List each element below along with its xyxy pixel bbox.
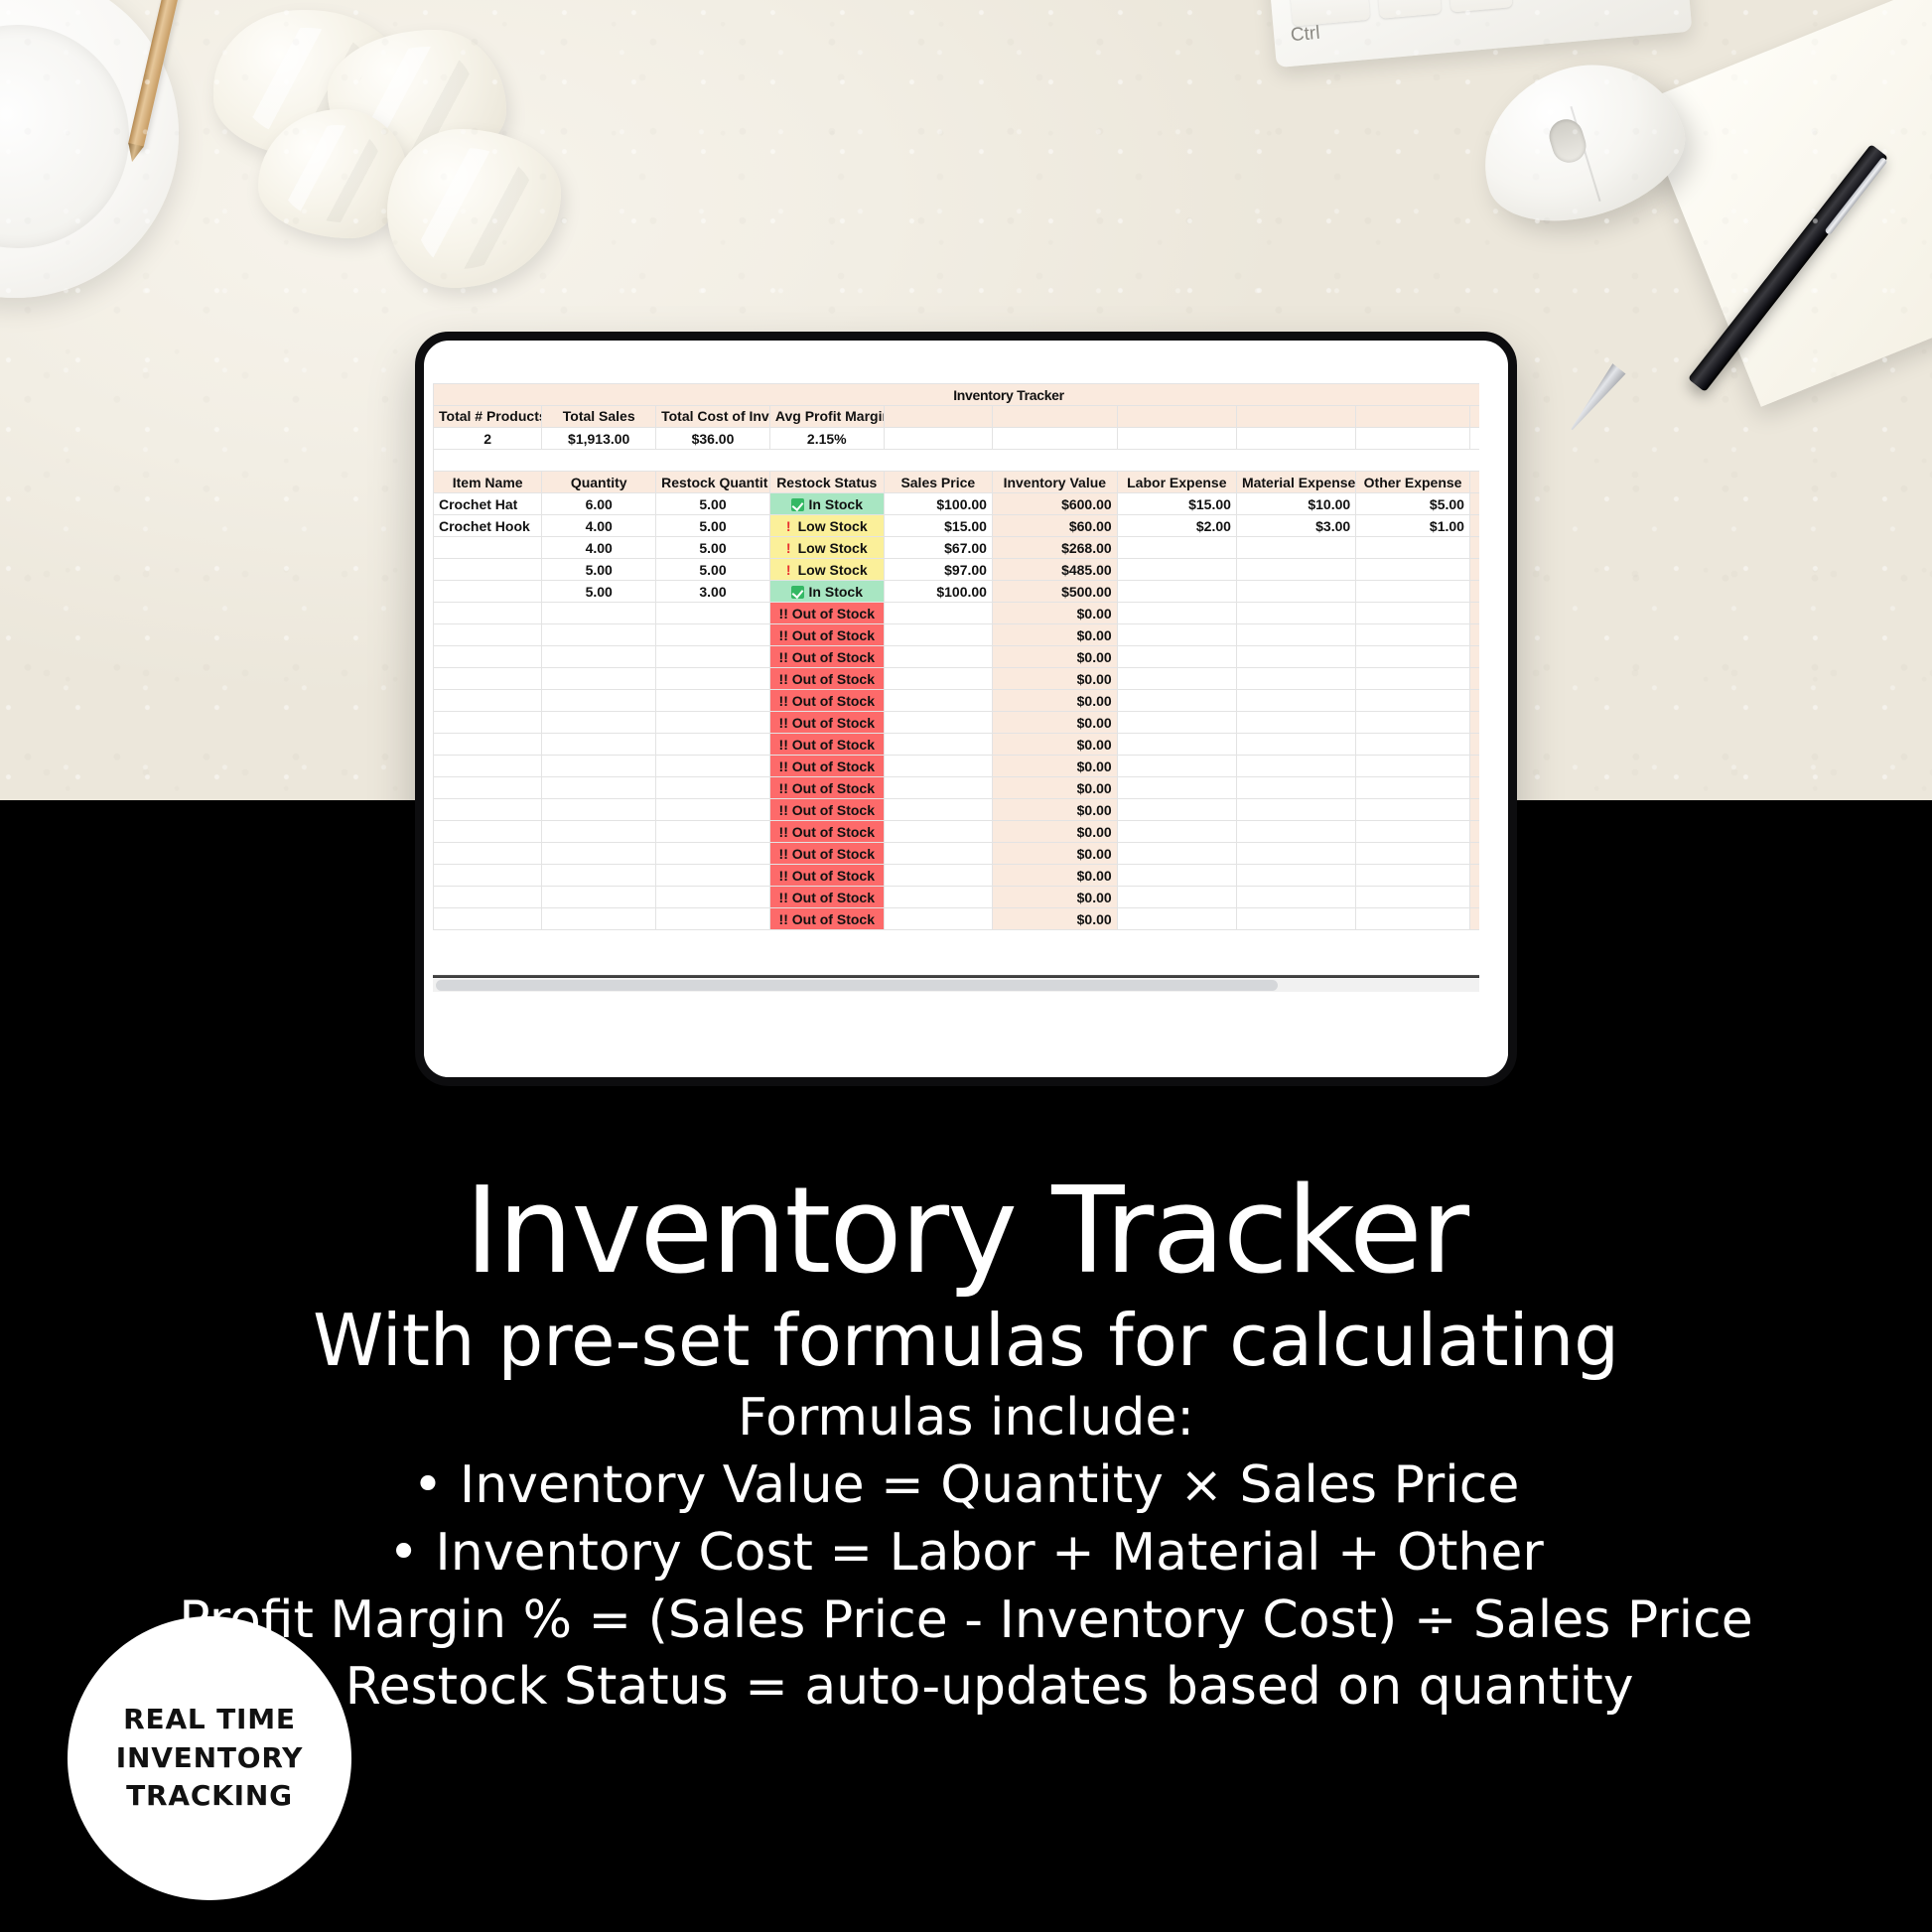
cell-other-expense[interactable]: [1356, 865, 1470, 887]
table-row[interactable]: Crochet Hook4.005.00!Low Stock$15.00$60.…: [434, 515, 1480, 537]
cell-restock-quantity[interactable]: [656, 756, 770, 777]
cell-restock-status[interactable]: !Low Stock: [769, 537, 884, 559]
subheadline: With pre-set formulas for calculating: [0, 1301, 1932, 1381]
cell-restock-status[interactable]: !! Out of Stock: [769, 603, 884, 624]
cell-restock-quantity[interactable]: [656, 690, 770, 712]
kpi-header-1: Total Sales: [542, 406, 656, 428]
kpi-value-row: 2$1,913.00$36.002.15%: [434, 428, 1480, 450]
kpi-value-1[interactable]: $1,913.00: [542, 428, 656, 450]
table-row[interactable]: 5.003.00In Stock$100.00$500.00$0.0: [434, 581, 1480, 603]
cell-restock-quantity[interactable]: [656, 646, 770, 668]
kpi-header-row: Total # ProductsTotal SalesTotal Cost of…: [434, 406, 1480, 428]
cell-restock-status[interactable]: !! Out of Stock: [769, 690, 884, 712]
formula-item-0: • Inventory Value = Quantity × Sales Pri…: [0, 1452, 1932, 1520]
cell-quantity[interactable]: [542, 668, 656, 690]
cell-quantity[interactable]: [542, 712, 656, 734]
cell-restock-status[interactable]: In Stock: [769, 581, 884, 603]
crumpled-paper: [387, 129, 561, 288]
cell-labor-expense[interactable]: [1117, 690, 1236, 712]
cell-sales-price[interactable]: $15.00: [884, 515, 992, 537]
cell-item-name[interactable]: [434, 734, 542, 756]
cell-inventory-value[interactable]: $0.00: [992, 756, 1117, 777]
kpi-value-5[interactable]: [992, 428, 1117, 450]
cell-other-expense[interactable]: [1356, 581, 1470, 603]
cell-item-name[interactable]: [434, 821, 542, 843]
cell-other-expense[interactable]: [1356, 799, 1470, 821]
kpi-header-3: Avg Profit Margin: [769, 406, 884, 428]
cell-item-name[interactable]: [434, 603, 542, 624]
cell-restock-quantity[interactable]: [656, 603, 770, 624]
cell-other-expense[interactable]: [1356, 690, 1470, 712]
kpi-header-pad: [1469, 406, 1479, 428]
cell-restock-quantity[interactable]: 3.00: [656, 581, 770, 603]
table-row[interactable]: 4.005.00!Low Stock$67.00$268.00$0.0: [434, 537, 1480, 559]
cell-inventory-value[interactable]: $0.00: [992, 712, 1117, 734]
column-header-5[interactable]: Inventory Value: [992, 472, 1117, 493]
laptop-mockup: Inventory TrackerTotal # ProductsTotal S…: [415, 332, 1517, 1086]
badge-line-3: TRACKING: [116, 1777, 304, 1816]
cell-quantity[interactable]: 4.00: [542, 537, 656, 559]
column-header-4[interactable]: Sales Price: [884, 472, 992, 493]
cell-inventory-cost[interactable]: $6.0: [1469, 515, 1479, 537]
cell-labor-expense[interactable]: [1117, 646, 1236, 668]
inventory-table[interactable]: Inventory TrackerTotal # ProductsTotal S…: [433, 383, 1479, 930]
cell-quantity[interactable]: [542, 603, 656, 624]
cell-labor-expense[interactable]: [1117, 712, 1236, 734]
column-header-row: Item NameQuantityRestock QuantitRestock …: [434, 472, 1480, 493]
kpi-header-0: Total # Products: [434, 406, 542, 428]
cell-restock-quantity[interactable]: [656, 908, 770, 930]
cell-other-expense[interactable]: [1356, 537, 1470, 559]
column-header-8[interactable]: Other Expense: [1356, 472, 1470, 493]
cell-inventory-cost[interactable]: $0.0: [1469, 690, 1479, 712]
cell-labor-expense[interactable]: [1117, 865, 1236, 887]
cell-material-expense[interactable]: [1236, 865, 1355, 887]
cell-other-expense[interactable]: [1356, 668, 1470, 690]
mouse: [1462, 41, 1701, 242]
cell-other-expense[interactable]: [1356, 777, 1470, 799]
cell-sales-price[interactable]: [884, 690, 992, 712]
sheet-title-row: Inventory Tracker: [434, 384, 1480, 406]
cell-restock-quantity[interactable]: [656, 734, 770, 756]
cell-inventory-value[interactable]: $0.00: [992, 603, 1117, 624]
cell-item-name[interactable]: [434, 887, 542, 908]
cell-item-name[interactable]: [434, 690, 542, 712]
cell-inventory-value[interactable]: $500.00: [992, 581, 1117, 603]
cell-labor-expense[interactable]: [1117, 887, 1236, 908]
table-row[interactable]: !! Out of Stock$0.00$0.0: [434, 865, 1480, 887]
table-row[interactable]: !! Out of Stock$0.00$0.0: [434, 624, 1480, 646]
cell-inventory-value[interactable]: $0.00: [992, 690, 1117, 712]
cell-sales-price[interactable]: [884, 865, 992, 887]
table-row[interactable]: !! Out of Stock$0.00$0.0: [434, 668, 1480, 690]
cell-restock-status[interactable]: !! Out of Stock: [769, 843, 884, 865]
scrollbar-thumb[interactable]: [436, 980, 1278, 991]
column-header-0[interactable]: Item Name: [434, 472, 542, 493]
cell-sales-price[interactable]: $97.00: [884, 559, 992, 581]
check-icon: [791, 498, 804, 511]
cell-inventory-value[interactable]: $268.00: [992, 537, 1117, 559]
cell-inventory-value[interactable]: $0.00: [992, 668, 1117, 690]
cell-other-expense[interactable]: [1356, 756, 1470, 777]
cell-labor-expense[interactable]: [1117, 624, 1236, 646]
cell-item-name[interactable]: [434, 777, 542, 799]
sheet-title: Inventory Tracker: [434, 384, 1480, 406]
cell-other-expense[interactable]: [1356, 559, 1470, 581]
kpi-header-4: [884, 406, 992, 428]
cell-material-expense[interactable]: [1236, 690, 1355, 712]
cell-item-name[interactable]: [434, 646, 542, 668]
cell-quantity[interactable]: [542, 646, 656, 668]
cell-restock-status[interactable]: !! Out of Stock: [769, 756, 884, 777]
cell-inventory-cost[interactable]: $0.0: [1469, 887, 1479, 908]
cell-sales-price[interactable]: [884, 603, 992, 624]
cell-item-name[interactable]: [434, 908, 542, 930]
keyboard-key: [1288, 0, 1370, 26]
cell-item-name[interactable]: [434, 712, 542, 734]
column-header-1[interactable]: Quantity: [542, 472, 656, 493]
cell-quantity[interactable]: [542, 821, 656, 843]
cell-restock-quantity[interactable]: [656, 777, 770, 799]
cell-quantity[interactable]: 6.00: [542, 493, 656, 515]
cell-item-name[interactable]: [434, 537, 542, 559]
cell-inventory-value[interactable]: $485.00: [992, 559, 1117, 581]
cell-other-expense[interactable]: $1.00: [1356, 515, 1470, 537]
cell-inventory-cost[interactable]: $0.0: [1469, 581, 1479, 603]
check-icon: [791, 586, 804, 599]
cell-material-expense[interactable]: [1236, 646, 1355, 668]
cell-inventory-cost[interactable]: $0.0: [1469, 734, 1479, 756]
cell-item-name[interactable]: [434, 799, 542, 821]
cell-item-name[interactable]: [434, 668, 542, 690]
crumpled-paper: [213, 10, 402, 159]
cell-other-expense[interactable]: [1356, 624, 1470, 646]
column-header-3[interactable]: Restock Status: [769, 472, 884, 493]
spreadsheet-viewport[interactable]: Inventory TrackerTotal # ProductsTotal S…: [433, 383, 1479, 1058]
cell-restock-status[interactable]: !! Out of Stock: [769, 712, 884, 734]
cell-restock-status[interactable]: !! Out of Stock: [769, 777, 884, 799]
cell-labor-expense[interactable]: [1117, 908, 1236, 930]
cell-restock-quantity[interactable]: [656, 668, 770, 690]
cell-inventory-value[interactable]: $0.00: [992, 624, 1117, 646]
real-time-tracking-badge: REAL TIME INVENTORY TRACKING: [68, 1616, 351, 1900]
cell-other-expense[interactable]: [1356, 908, 1470, 930]
table-row[interactable]: !! Out of Stock$0.00$0.0: [434, 821, 1480, 843]
cell-quantity[interactable]: [542, 887, 656, 908]
pen-clip: [1824, 157, 1887, 235]
cell-sales-price[interactable]: [884, 712, 992, 734]
table-row[interactable]: !! Out of Stock$0.00$0.0: [434, 646, 1480, 668]
table-row[interactable]: !! Out of Stock$0.00$0.0: [434, 712, 1480, 734]
keyboard-key: [1446, 0, 1512, 13]
cell-labor-expense[interactable]: [1117, 537, 1236, 559]
cell-item-name[interactable]: [434, 756, 542, 777]
pen-tip: [1563, 361, 1627, 436]
cell-material-expense[interactable]: [1236, 559, 1355, 581]
column-header-2[interactable]: Restock Quantit: [656, 472, 770, 493]
cell-sales-price[interactable]: [884, 756, 992, 777]
horizontal-scrollbar[interactable]: [433, 977, 1479, 992]
cell-quantity[interactable]: [542, 756, 656, 777]
cell-restock-quantity[interactable]: 5.00: [656, 515, 770, 537]
cell-restock-status[interactable]: !! Out of Stock: [769, 624, 884, 646]
cell-restock-quantity[interactable]: [656, 887, 770, 908]
cell-labor-expense[interactable]: [1117, 734, 1236, 756]
crumpled-paper: [328, 30, 506, 169]
cell-material-expense[interactable]: [1236, 777, 1355, 799]
cell-sales-price[interactable]: [884, 777, 992, 799]
cell-labor-expense[interactable]: [1117, 668, 1236, 690]
cell-quantity[interactable]: [542, 777, 656, 799]
cell-item-name[interactable]: [434, 624, 542, 646]
spacer-row: [434, 450, 1480, 472]
cell-restock-quantity[interactable]: [656, 712, 770, 734]
table-row[interactable]: !! Out of Stock$0.00$0.0: [434, 756, 1480, 777]
cell-quantity[interactable]: 4.00: [542, 515, 656, 537]
cell-restock-quantity[interactable]: 5.00: [656, 493, 770, 515]
cell-sales-price[interactable]: [884, 843, 992, 865]
marketing-copy: Inventory Tracker With pre-set formulas …: [0, 1172, 1932, 1722]
cell-quantity[interactable]: [542, 908, 656, 930]
cell-restock-quantity[interactable]: 5.00: [656, 559, 770, 581]
cell-inventory-cost[interactable]: $0.0: [1469, 865, 1479, 887]
cell-other-expense[interactable]: [1356, 734, 1470, 756]
cell-labor-expense[interactable]: $15.00: [1117, 493, 1236, 515]
column-header-7[interactable]: Material Expense: [1236, 472, 1355, 493]
kpi-value-6[interactable]: [1117, 428, 1236, 450]
warning-icon: !: [786, 540, 791, 556]
cell-material-expense[interactable]: [1236, 668, 1355, 690]
cell-inventory-value[interactable]: $0.00: [992, 865, 1117, 887]
cell-restock-status[interactable]: !! Out of Stock: [769, 646, 884, 668]
table-row[interactable]: !! Out of Stock$0.00$0.0: [434, 908, 1480, 930]
cell-sales-price[interactable]: [884, 646, 992, 668]
cell-restock-quantity[interactable]: [656, 821, 770, 843]
cell-sales-price[interactable]: [884, 734, 992, 756]
cell-restock-status[interactable]: !! Out of Stock: [769, 887, 884, 908]
cell-quantity[interactable]: [542, 799, 656, 821]
crumpled-paper: [258, 109, 407, 238]
cell-inventory-value[interactable]: $0.00: [992, 734, 1117, 756]
warning-icon: !: [786, 518, 791, 534]
table-row[interactable]: Crochet Hat6.005.00In Stock$100.00$600.0…: [434, 493, 1480, 515]
cell-inventory-cost[interactable]: $0.0: [1469, 646, 1479, 668]
warning-icon: !: [786, 562, 791, 578]
kpi-value-7[interactable]: [1236, 428, 1355, 450]
headline: Inventory Tracker: [0, 1172, 1932, 1293]
kpi-value-3[interactable]: 2.15%: [769, 428, 884, 450]
cell-material-expense[interactable]: [1236, 624, 1355, 646]
cup-plate-inner: [0, 25, 129, 248]
cell-restock-quantity[interactable]: [656, 799, 770, 821]
keyboard-key-label: Ctrl: [1290, 23, 1320, 47]
cell-inventory-cost[interactable]: $0.0: [1469, 668, 1479, 690]
cell-inventory-cost[interactable]: $0.0: [1469, 624, 1479, 646]
kpi-header-2: Total Cost of Inventory: [656, 406, 770, 428]
cell-item-name[interactable]: [434, 843, 542, 865]
cell-inventory-cost[interactable]: $0.0: [1469, 799, 1479, 821]
cell-sales-price[interactable]: $67.00: [884, 537, 992, 559]
cell-other-expense[interactable]: [1356, 712, 1470, 734]
badge-line-1: REAL TIME: [116, 1701, 304, 1739]
cell-other-expense[interactable]: [1356, 646, 1470, 668]
cell-inventory-value[interactable]: $0.00: [992, 843, 1117, 865]
table-row[interactable]: !! Out of Stock$0.00$0.0: [434, 843, 1480, 865]
pencil: [128, 0, 186, 148]
cell-restock-quantity[interactable]: 5.00: [656, 537, 770, 559]
mouse-scroll-wheel: [1545, 115, 1589, 167]
cell-material-expense[interactable]: [1236, 581, 1355, 603]
cell-other-expense[interactable]: [1356, 821, 1470, 843]
cell-inventory-cost[interactable]: $0.0: [1469, 843, 1479, 865]
kpi-header-pad: [1356, 406, 1470, 428]
cell-restock-status[interactable]: !! Out of Stock: [769, 908, 884, 930]
cell-labor-expense[interactable]: [1117, 581, 1236, 603]
cell-item-name[interactable]: [434, 865, 542, 887]
kpi-header-7: [1236, 406, 1355, 428]
cell-restock-status[interactable]: !Low Stock: [769, 559, 884, 581]
cell-inventory-cost[interactable]: $0.0: [1469, 603, 1479, 624]
cell-restock-status[interactable]: !! Out of Stock: [769, 821, 884, 843]
table-row[interactable]: !! Out of Stock$0.00$0.0: [434, 887, 1480, 908]
keyboard: [1267, 0, 1693, 68]
cell-inventory-value[interactable]: $60.00: [992, 515, 1117, 537]
cell-material-expense[interactable]: [1236, 908, 1355, 930]
cell-restock-status[interactable]: !! Out of Stock: [769, 865, 884, 887]
cell-labor-expense[interactable]: [1117, 559, 1236, 581]
cell-inventory-cost[interactable]: $0.0: [1469, 908, 1479, 930]
cell-labor-expense[interactable]: [1117, 843, 1236, 865]
cell-material-expense[interactable]: $3.00: [1236, 515, 1355, 537]
cell-material-expense[interactable]: [1236, 887, 1355, 908]
cell-restock-quantity[interactable]: [656, 843, 770, 865]
cell-material-expense[interactable]: [1236, 799, 1355, 821]
cell-inventory-value[interactable]: $600.00: [992, 493, 1117, 515]
cell-sales-price[interactable]: [884, 887, 992, 908]
cell-quantity[interactable]: [542, 843, 656, 865]
cell-material-expense[interactable]: [1236, 843, 1355, 865]
cell-material-expense[interactable]: [1236, 734, 1355, 756]
cell-sales-price[interactable]: [884, 821, 992, 843]
cell-material-expense[interactable]: [1236, 603, 1355, 624]
column-header-6[interactable]: Labor Expense: [1117, 472, 1236, 493]
cell-inventory-cost[interactable]: $0.0: [1469, 777, 1479, 799]
cell-other-expense[interactable]: [1356, 603, 1470, 624]
cell-sales-price[interactable]: [884, 908, 992, 930]
kpi-header-6: [1117, 406, 1236, 428]
table-row[interactable]: 5.005.00!Low Stock$97.00$485.00$0.0: [434, 559, 1480, 581]
table-row[interactable]: !! Out of Stock$0.00$0.0: [434, 799, 1480, 821]
cell-sales-price[interactable]: $100.00: [884, 581, 992, 603]
saucer: [0, 0, 179, 298]
cell-material-expense[interactable]: [1236, 537, 1355, 559]
table-row[interactable]: !! Out of Stock$0.00$0.0: [434, 734, 1480, 756]
cell-sales-price[interactable]: [884, 799, 992, 821]
mouse-seam: [1570, 106, 1600, 202]
notepad: [1638, 0, 1932, 407]
cell-restock-quantity[interactable]: [656, 865, 770, 887]
cell-inventory-cost[interactable]: $0.0: [1469, 559, 1479, 581]
cell-inventory-cost[interactable]: $30.0: [1469, 493, 1479, 515]
kpi-value-2[interactable]: $36.00: [656, 428, 770, 450]
cell-restock-quantity[interactable]: [656, 624, 770, 646]
cell-material-expense[interactable]: [1236, 821, 1355, 843]
cell-other-expense[interactable]: [1356, 843, 1470, 865]
cell-quantity[interactable]: [542, 624, 656, 646]
cell-quantity[interactable]: [542, 690, 656, 712]
cell-inventory-value[interactable]: $0.00: [992, 908, 1117, 930]
cell-quantity[interactable]: [542, 865, 656, 887]
cell-labor-expense[interactable]: [1117, 777, 1236, 799]
cell-material-expense[interactable]: [1236, 712, 1355, 734]
cell-inventory-value[interactable]: $0.00: [992, 799, 1117, 821]
cell-restock-status[interactable]: !Low Stock: [769, 515, 884, 537]
cell-sales-price[interactable]: $100.00: [884, 493, 992, 515]
table-row[interactable]: !! Out of Stock$0.00$0.0: [434, 603, 1480, 624]
cell-inventory-cost[interactable]: $0.0: [1469, 537, 1479, 559]
cell-inventory-value[interactable]: $0.00: [992, 821, 1117, 843]
keyboard-key: [1375, 0, 1442, 19]
column-header-9[interactable]: Inventory Co: [1469, 472, 1479, 493]
screen-bottom-edge: [433, 975, 1479, 978]
cell-inventory-cost[interactable]: $0.0: [1469, 821, 1479, 843]
cell-labor-expense[interactable]: [1117, 821, 1236, 843]
kpi-value-4[interactable]: [884, 428, 992, 450]
cell-restock-status[interactable]: !! Out of Stock: [769, 668, 884, 690]
cell-other-expense[interactable]: [1356, 887, 1470, 908]
formula-item-1: • Inventory Cost = Labor + Material + Ot…: [0, 1520, 1932, 1587]
cell-labor-expense[interactable]: [1117, 603, 1236, 624]
cell-restock-status[interactable]: !! Out of Stock: [769, 799, 884, 821]
cell-labor-expense[interactable]: [1117, 756, 1236, 777]
cell-other-expense[interactable]: $5.00: [1356, 493, 1470, 515]
badge-line-2: INVENTORY: [116, 1739, 304, 1778]
table-row[interactable]: !! Out of Stock$0.00$0.0: [434, 690, 1480, 712]
kpi-header-5: [992, 406, 1117, 428]
pen: [1688, 144, 1888, 392]
cell-quantity[interactable]: [542, 734, 656, 756]
cell-inventory-cost[interactable]: $0.0: [1469, 712, 1479, 734]
cell-sales-price[interactable]: [884, 668, 992, 690]
cell-material-expense[interactable]: $10.00: [1236, 493, 1355, 515]
cell-sales-price[interactable]: [884, 624, 992, 646]
cell-inventory-value[interactable]: $0.00: [992, 777, 1117, 799]
cell-labor-expense[interactable]: $2.00: [1117, 515, 1236, 537]
cell-inventory-value[interactable]: $0.00: [992, 887, 1117, 908]
cell-material-expense[interactable]: [1236, 756, 1355, 777]
cell-item-name[interactable]: Crochet Hook: [434, 515, 542, 537]
cell-item-name[interactable]: Crochet Hat: [434, 493, 542, 515]
table-row[interactable]: !! Out of Stock$0.00$0.0: [434, 777, 1480, 799]
cell-item-name[interactable]: [434, 581, 542, 603]
cell-restock-status[interactable]: In Stock: [769, 493, 884, 515]
cell-labor-expense[interactable]: [1117, 799, 1236, 821]
cell-item-name[interactable]: [434, 559, 542, 581]
cell-inventory-value[interactable]: $0.00: [992, 646, 1117, 668]
kpi-value-0[interactable]: 2: [434, 428, 542, 450]
cell-inventory-cost[interactable]: $0.0: [1469, 756, 1479, 777]
cell-restock-status[interactable]: !! Out of Stock: [769, 734, 884, 756]
formulas-intro: Formulas include:: [0, 1387, 1932, 1449]
cell-quantity[interactable]: 5.00: [542, 581, 656, 603]
laptop-base: [424, 994, 1508, 1077]
cell-quantity[interactable]: 5.00: [542, 559, 656, 581]
